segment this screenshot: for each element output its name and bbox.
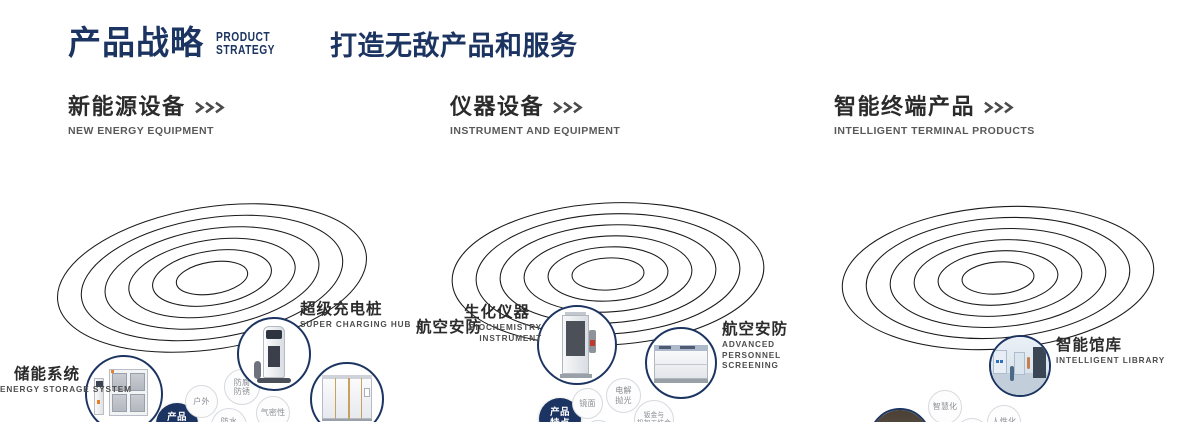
section-title-en: NEW ENERGY EQUIPMENT — [68, 125, 229, 137]
charging-pile-photo — [239, 319, 309, 389]
caption-en: SUPER CHARGING HUB — [300, 320, 411, 331]
section-title-cn: 仪器设备 — [450, 96, 544, 118]
page-title-cn: 产品战略 — [68, 26, 204, 59]
node-advanced-personnel-screening[interactable] — [645, 327, 717, 399]
feature-bubble-airtight: 气密性 — [256, 396, 290, 422]
cluster-instrument: 产品 特点 镜面 电解 抛光 零缺陷 钣金与 机加工结合 航空安防 — [400, 150, 820, 400]
caption-energy-storage-system: 储能系统 ENERGY STORAGE SYSTEM — [0, 367, 80, 396]
caption-cn: 超级充电桩 — [300, 302, 411, 318]
chevron-triple-right-icon — [984, 101, 1018, 114]
page-subtitle: 打造无敌产品和服务 — [330, 33, 578, 60]
node-biochemistry-instrument[interactable] — [537, 305, 617, 385]
caption-super-charging-hub: 超级充电桩 SUPER CHARGING HUB — [300, 302, 411, 331]
photovoltaic-inverter-photo — [312, 364, 382, 422]
section-heading-intelligent-terminal: 智能终端产品 INTELLIGENT TERMINAL PRODUCTS — [834, 96, 1035, 137]
intelligent-library-photo — [991, 337, 1049, 395]
feature-bubble-sheetmetal-machining: 钣金与 机加工结合 — [634, 400, 674, 422]
cluster-intelligent-terminal: 智慧化 数字化 人性化 产品 特点 智能馆库 I — [800, 150, 1200, 400]
feature-bubble-waterproof: 防水 防尘 — [211, 408, 247, 422]
page-title-en-line1: PRODUCT — [216, 31, 275, 44]
section-title-cn: 新能源设备 — [68, 96, 186, 118]
caption-intelligent-library: 智能馆库 INTELLIGENT LIBRARY — [1056, 338, 1165, 367]
section-title-en: INTELLIGENT TERMINAL PRODUCTS — [834, 125, 1035, 137]
page-title-en: PRODUCT STRATEGY — [216, 31, 275, 58]
node-intelligent-compact-shelf[interactable] — [869, 408, 931, 422]
section-title-cn: 智能终端产品 — [834, 96, 975, 118]
page-title-en-line2: STRATEGY — [216, 44, 275, 57]
feature-bubble-electropolishing: 电解 抛光 — [606, 378, 641, 413]
feature-bubble-humanization: 人性化 — [987, 405, 1021, 422]
biochemistry-instrument-photo — [539, 307, 615, 383]
compact-shelf-photo — [871, 410, 929, 422]
section-heading-new-energy: 新能源设备 NEW ENERGY EQUIPMENT — [68, 96, 229, 137]
caption-en: BIOCHEMISTRY INSTRUMENT — [464, 323, 542, 344]
page-title-block: 产品战略 PRODUCT STRATEGY — [68, 26, 288, 59]
caption-cn: 生化仪器 — [464, 305, 542, 321]
caption-biochemistry-instrument: 生化仪器 BIOCHEMISTRY INSTRUMENT — [464, 305, 542, 344]
caption-cn: 智能馆库 — [1056, 338, 1165, 354]
feature-bubble-intelligence: 智慧化 — [928, 390, 962, 422]
caption-cn: 储能系统 — [0, 367, 80, 383]
feature-bubble-mirror-finish: 镜面 — [572, 388, 603, 419]
node-intelligent-library[interactable] — [989, 335, 1051, 397]
feature-bubble-outdoor: 户外 — [185, 385, 218, 418]
section-title-en: INSTRUMENT AND EQUIPMENT — [450, 125, 620, 137]
chevron-triple-right-icon — [195, 101, 229, 114]
product-strategy-infographic: 产品战略 PRODUCT STRATEGY 打造无敌产品和服务 新能源设备 NE… — [0, 0, 1200, 422]
core-bubble-line1: 产品 — [167, 413, 187, 422]
chevron-triple-right-icon — [553, 101, 587, 114]
personnel-screening-photo — [647, 329, 715, 397]
caption-en: ENERGY STORAGE SYSTEM — [0, 385, 80, 396]
feature-bubble-digitalization: 数字化 — [955, 418, 989, 422]
cluster-new-energy: 产品 特点 户外 防腐 防锈 防水 防尘 气密性 — [0, 150, 420, 400]
section-heading-instrument: 仪器设备 INSTRUMENT AND EQUIPMENT — [450, 96, 620, 137]
node-photovoltaic-inverter[interactable] — [310, 362, 384, 422]
caption-en: INTELLIGENT LIBRARY — [1056, 356, 1165, 367]
